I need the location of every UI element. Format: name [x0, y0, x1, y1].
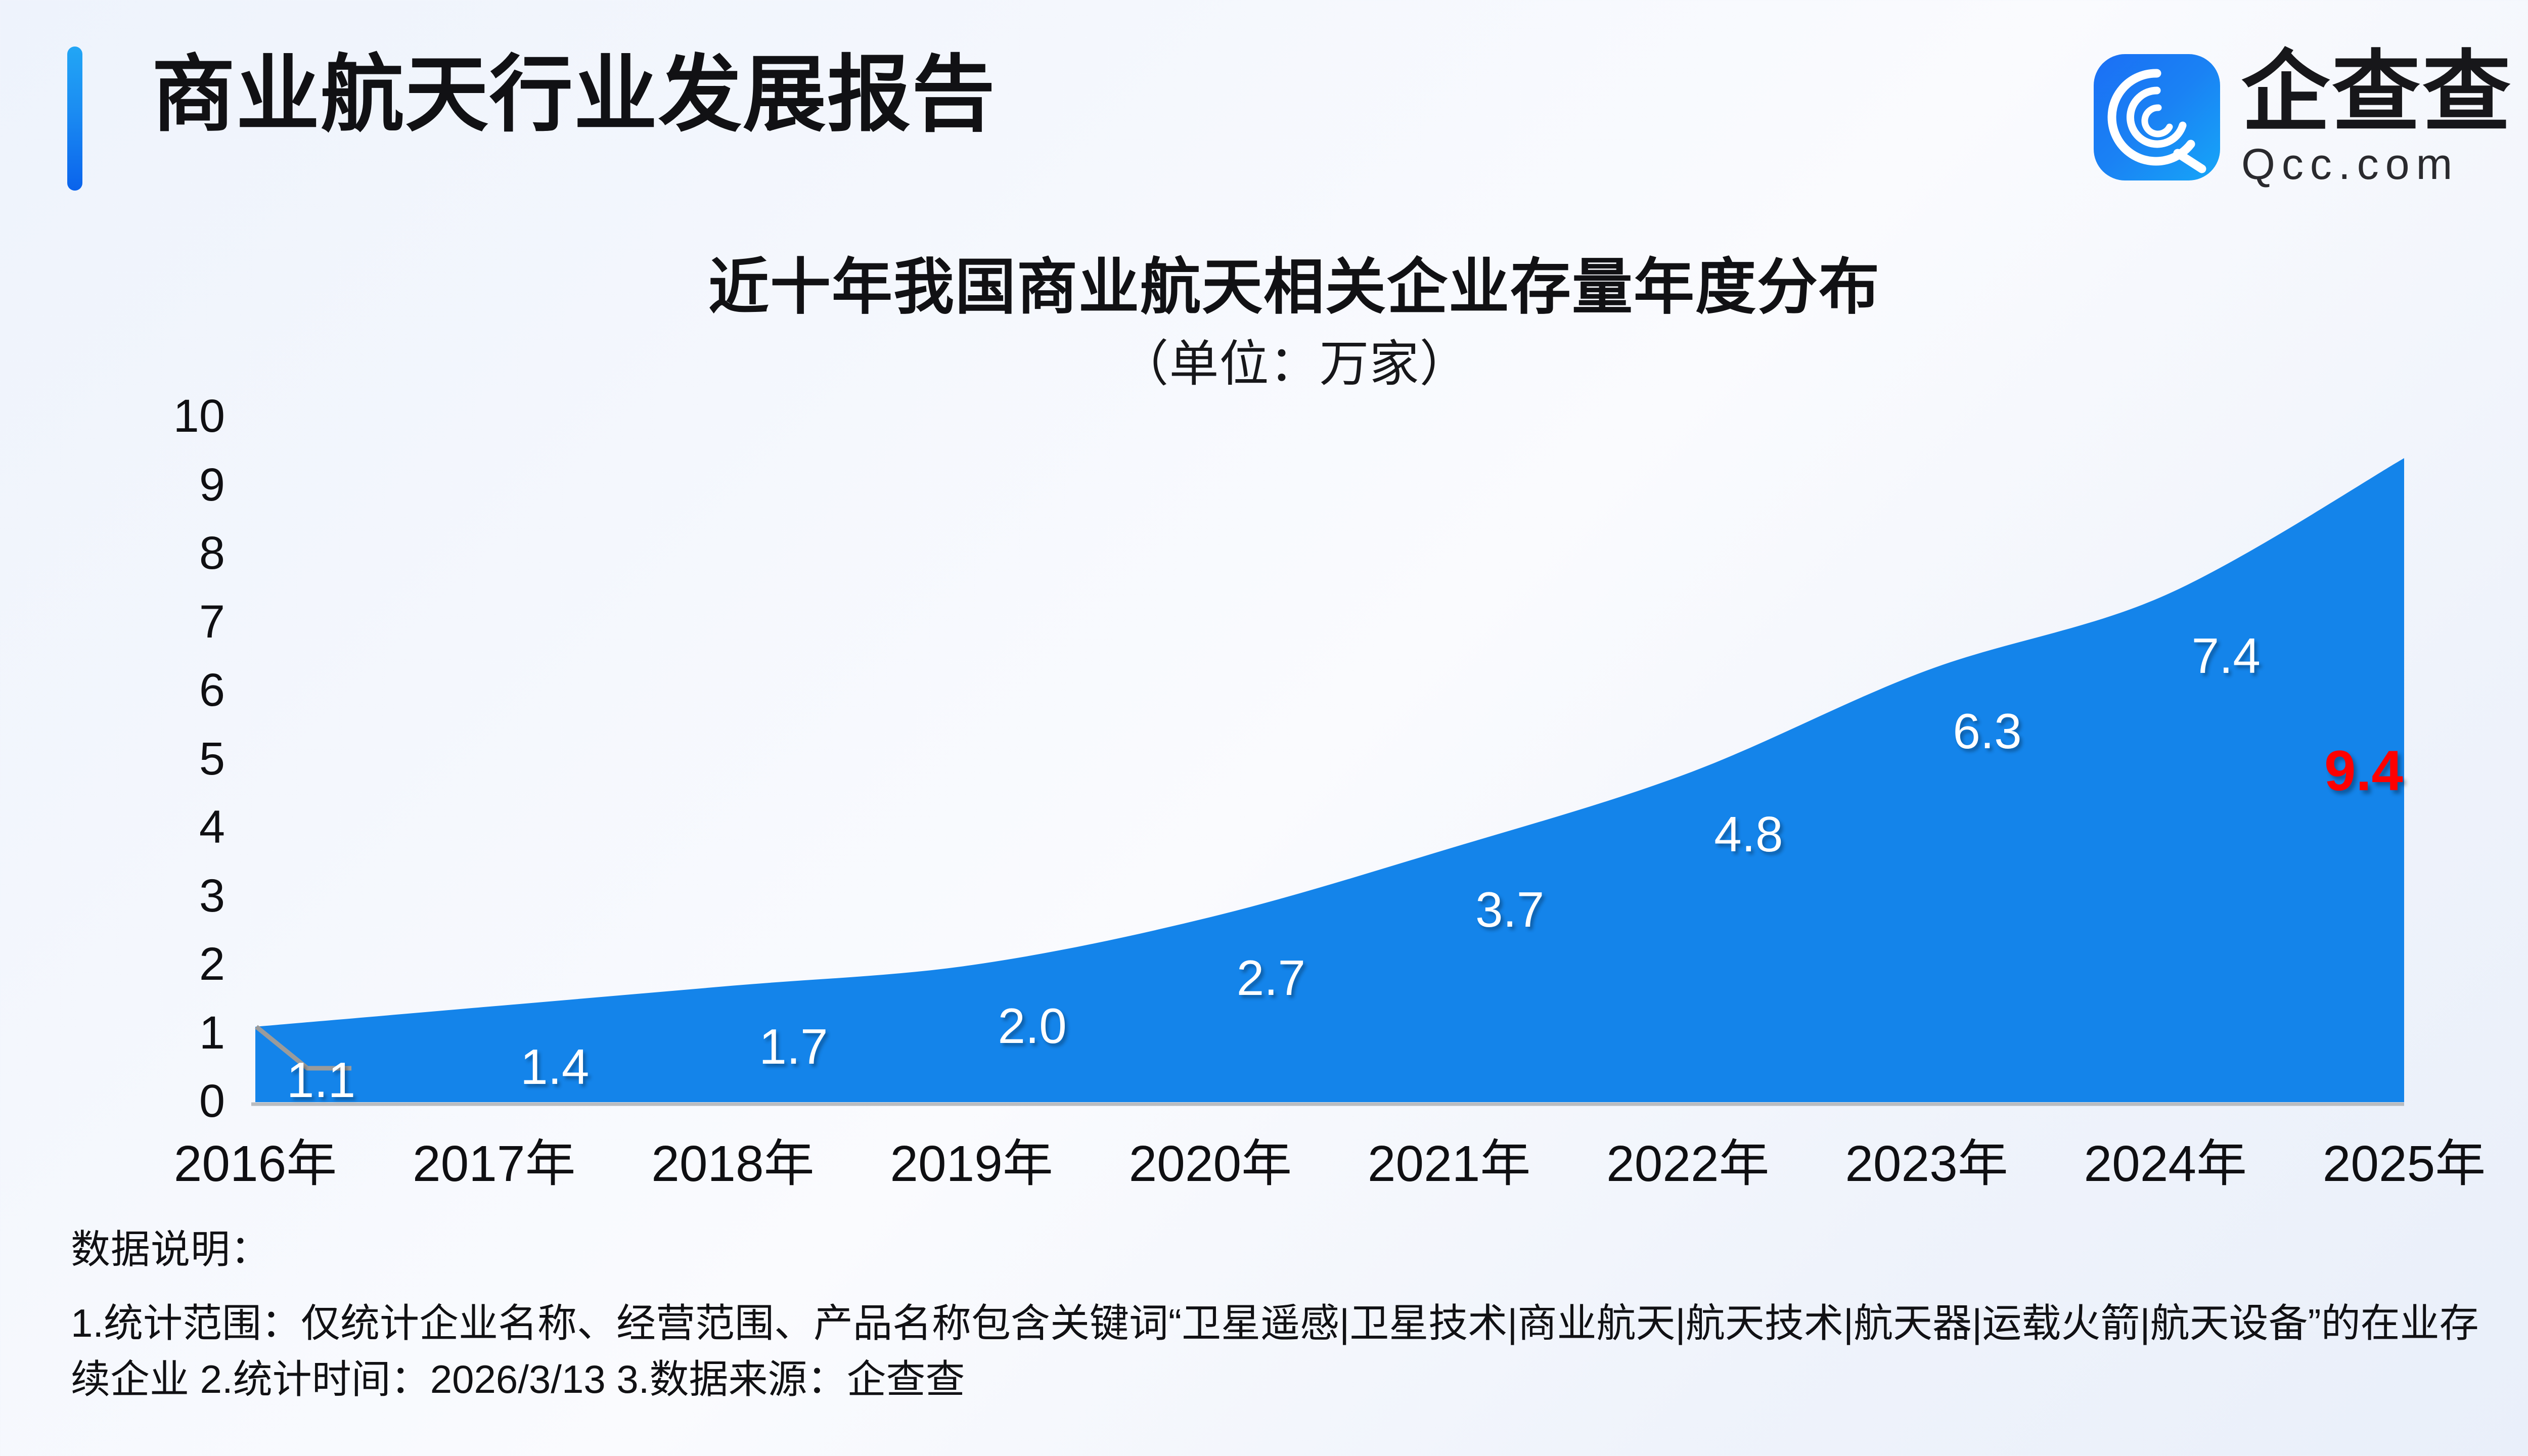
report-page: 商业航天行业发展报告 企查查 Qcc.com 近十年我国商业航天相关企业存量年度…	[0, 0, 2528, 1456]
data-label: 1.1	[287, 1055, 355, 1105]
data-label: 3.7	[1475, 885, 1544, 934]
data-note-heading: 数据说明：	[71, 1230, 2528, 1269]
data-note-line-2: 续企业 2.统计时间：2026/3/13 3.数据来源：企查查	[71, 1351, 2528, 1407]
x-axis-tick: 2020年	[1129, 1139, 1292, 1189]
x-axis-tick: 2025年	[2323, 1139, 2486, 1189]
data-label: 1.7	[759, 1022, 828, 1071]
data-label: 1.4	[520, 1042, 589, 1091]
data-label: 6.3	[1953, 706, 2021, 756]
x-axis-tick: 2018年	[651, 1139, 814, 1189]
x-axis-tick: 2023年	[1845, 1139, 2008, 1189]
data-label: 2.7	[1237, 953, 1305, 1003]
data-label: 2.0	[998, 1001, 1067, 1051]
x-axis-tick: 2017年	[413, 1139, 575, 1189]
data-label: 7.4	[2192, 631, 2261, 680]
x-axis-tick: 2022年	[1606, 1139, 1769, 1189]
area-fill	[255, 458, 2404, 1102]
data-note: 数据说明： 1.统计范围：仅统计企业名称、经营范围、产品名称包含关键词“卫星遥感…	[71, 1230, 2528, 1407]
x-axis-tick: 2016年	[174, 1139, 337, 1189]
data-label: 9.4	[2324, 743, 2403, 799]
data-note-line-1: 1.统计范围：仅统计企业名称、经营范围、产品名称包含关键词“卫星遥感|卫星技术|…	[71, 1295, 2528, 1351]
data-label: 4.8	[1714, 809, 1783, 859]
x-axis-tick: 2024年	[2084, 1139, 2247, 1189]
x-axis-tick: 2021年	[1368, 1139, 1530, 1189]
x-axis-tick: 2019年	[890, 1139, 1053, 1189]
